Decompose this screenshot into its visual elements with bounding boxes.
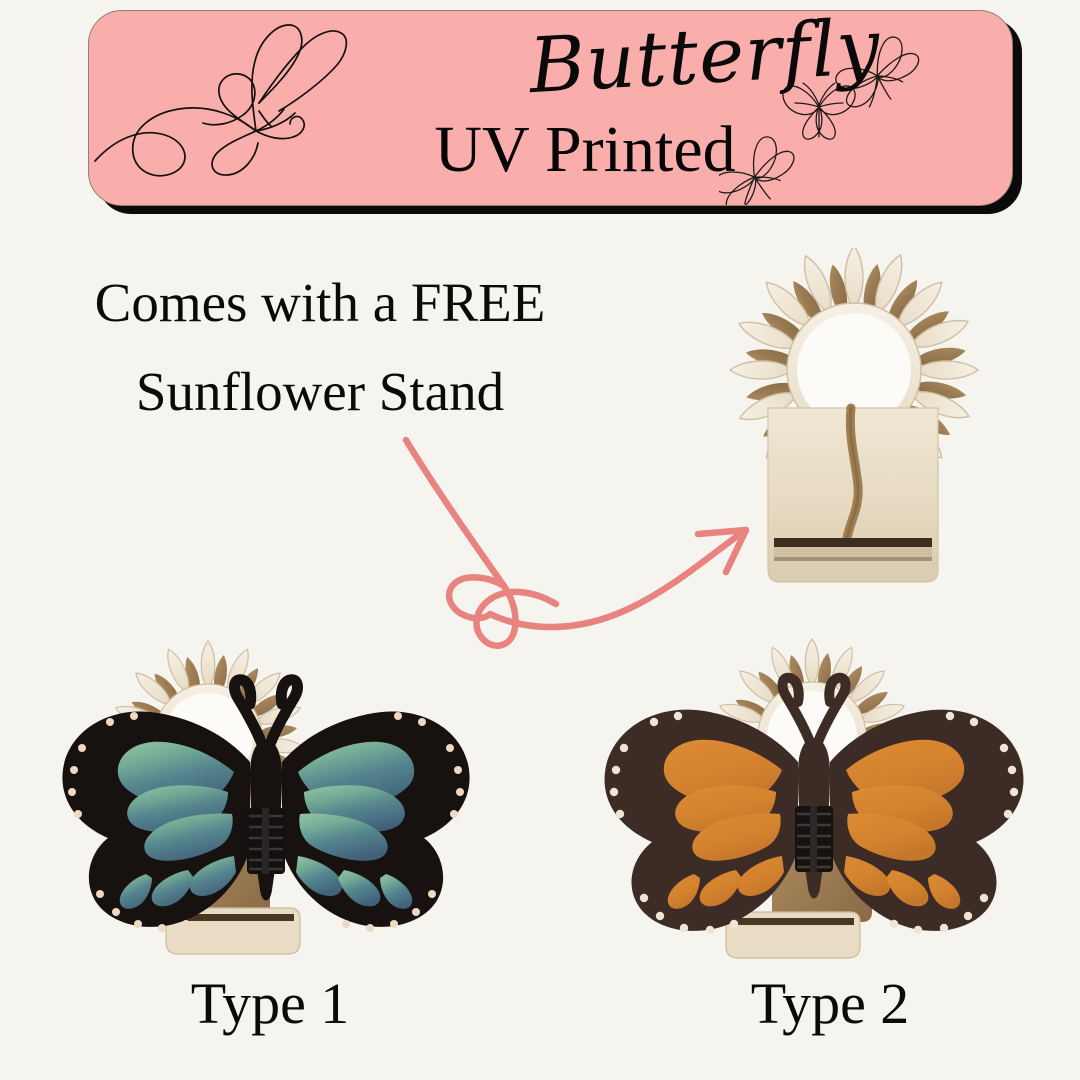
promo-text: Comes with a FREE Sunflower Stand [20, 258, 620, 436]
product-listing-canvas: Butterfly UV Printed Comes with a FREE S… [0, 0, 1080, 1080]
product-butterfly-type-2 [576, 612, 1046, 972]
product-butterfly-type-1 [38, 612, 498, 972]
promo-line-1: Comes with a FREE [20, 258, 620, 347]
banner-title-uv-printed: UV Printed [325, 117, 845, 183]
header-banner: Butterfly UV Printed [88, 10, 1013, 206]
product-sunflower-stand [688, 248, 1028, 600]
product-label-type-2: Type 2 [620, 975, 1040, 1033]
banner-title-butterfly: Butterfly [527, 10, 861, 104]
product-label-type-1: Type 1 [60, 975, 480, 1033]
